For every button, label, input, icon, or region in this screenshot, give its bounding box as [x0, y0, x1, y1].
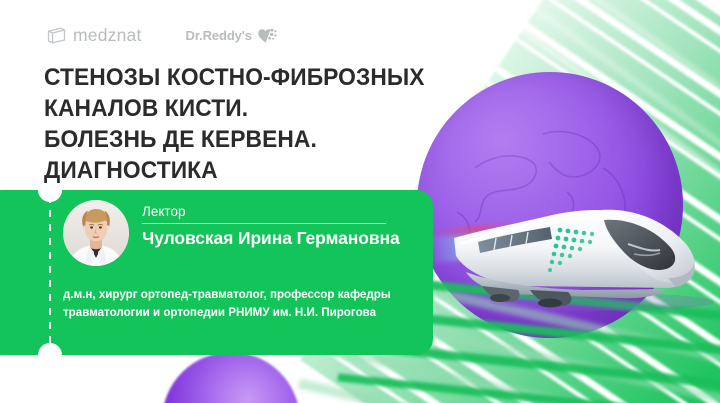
highlight-streak-3 — [558, 0, 720, 125]
logo-dr-reddys-text: Dr.Reddy's — [186, 28, 252, 43]
purple-sphere-small — [162, 352, 300, 403]
lecturer-divider — [142, 223, 386, 224]
lecturer-name: Чуловская Ирина Германовна — [142, 227, 427, 249]
logo-medznat-text: medznat — [73, 25, 142, 46]
highlight-streak-1 — [468, 0, 720, 187]
book-outline-icon — [47, 27, 66, 44]
avatar — [63, 200, 129, 266]
heart-dots-icon — [257, 28, 277, 44]
page-title: СТЕНОЗЫ КОСТНО-ФИБРОЗНЫХ КАНАЛОВ КИСТИ. … — [44, 62, 481, 186]
train-motion-trail-accent — [432, 221, 522, 237]
lecturer-label: Лектор — [142, 203, 427, 220]
highlight-streak-2 — [499, 0, 720, 160]
slide-canvas: medznat Dr.Reddy's СТЕНОЗЫ КОСТНО-ФИБРОЗ… — [0, 0, 720, 403]
ticket-perforation-line — [49, 196, 51, 348]
brand-logos: medznat Dr.Reddy's — [47, 25, 277, 46]
logo-medznat[interactable]: medznat — [47, 25, 142, 46]
lecturer-credentials: д.м.н, хирург ортопед-травматолог, профе… — [63, 286, 438, 321]
high-speed-train — [452, 186, 720, 318]
logo-dr-reddys[interactable]: Dr.Reddy's — [186, 28, 277, 44]
lecturer-info: Лектор Чуловская Ирина Германовна — [142, 203, 427, 249]
train-motion-trail — [427, 227, 549, 263]
